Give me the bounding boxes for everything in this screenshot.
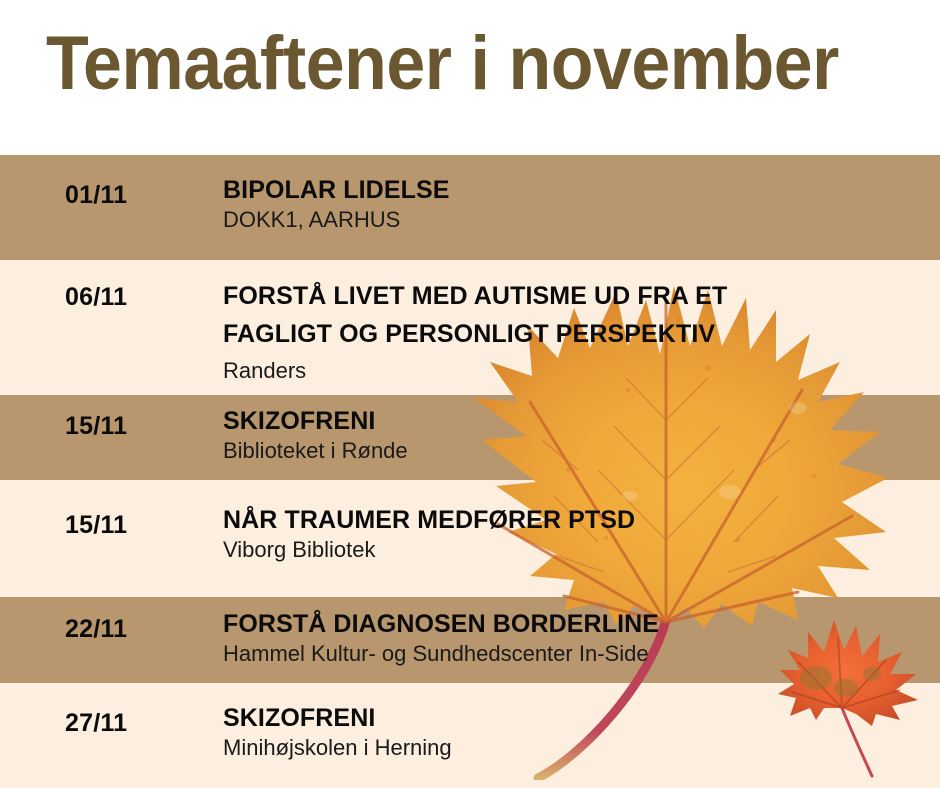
event-title: FORSTÅ DIAGNOSEN BORDERLINE bbox=[223, 609, 923, 640]
list-item[interactable]: 15/11 NÅR TRAUMER MEDFØRER PTSD Viborg B… bbox=[0, 480, 940, 597]
list-item[interactable]: 06/11 FORSTÅ LIVET MED AUTISME UD FRA ET… bbox=[0, 260, 940, 395]
event-title: NÅR TRAUMER MEDFØRER PTSD bbox=[223, 505, 923, 536]
event-place: Biblioteket i Rønde bbox=[223, 437, 923, 464]
list-item[interactable]: 22/11 FORSTÅ DIAGNOSEN BORDERLINE Hammel… bbox=[0, 597, 940, 683]
schedule-list: 01/11 BIPOLAR LIDELSE DOKK1, AARHUS 06/1… bbox=[0, 155, 940, 788]
list-item[interactable]: 27/11 SKIZOFRENI Minihøjskolen i Herning bbox=[0, 683, 940, 788]
event-title: BIPOLAR LIDELSE bbox=[223, 175, 923, 206]
event-date: 15/11 bbox=[65, 412, 127, 441]
event-title: SKIZOFRENI bbox=[223, 406, 923, 437]
event-details: SKIZOFRENI Minihøjskolen i Herning bbox=[223, 703, 923, 761]
event-details: SKIZOFRENI Biblioteket i Rønde bbox=[223, 406, 923, 464]
list-item[interactable]: 01/11 BIPOLAR LIDELSE DOKK1, AARHUS bbox=[0, 155, 940, 260]
event-details: FORSTÅ LIVET MED AUTISME UD FRA ET FAGLI… bbox=[223, 277, 923, 384]
event-details: BIPOLAR LIDELSE DOKK1, AARHUS bbox=[223, 175, 923, 233]
event-place: Hammel Kultur- og Sundhedscenter In-Side bbox=[223, 640, 923, 667]
event-title: SKIZOFRENI bbox=[223, 703, 923, 734]
event-date: 22/11 bbox=[65, 615, 127, 644]
event-place: DOKK1, AARHUS bbox=[223, 206, 923, 233]
event-date: 15/11 bbox=[65, 511, 127, 540]
page-title: Temaaftener i november bbox=[46, 18, 839, 110]
event-date: 06/11 bbox=[65, 283, 127, 312]
poster-header: Temaaftener i november bbox=[0, 0, 940, 155]
event-title: FORSTÅ LIVET MED AUTISME UD FRA ET FAGLI… bbox=[223, 277, 923, 353]
event-place: Minihøjskolen i Herning bbox=[223, 734, 923, 761]
poster-canvas: Temaaftener i november 01/11 BIPOLAR LID… bbox=[0, 0, 940, 788]
event-place: Viborg Bibliotek bbox=[223, 536, 923, 563]
event-details: FORSTÅ DIAGNOSEN BORDERLINE Hammel Kultu… bbox=[223, 609, 923, 667]
event-place: Randers bbox=[223, 357, 923, 384]
list-item[interactable]: 15/11 SKIZOFRENI Biblioteket i Rønde bbox=[0, 395, 940, 480]
event-date: 27/11 bbox=[65, 709, 127, 738]
event-details: NÅR TRAUMER MEDFØRER PTSD Viborg Bibliot… bbox=[223, 505, 923, 563]
event-date: 01/11 bbox=[65, 181, 127, 210]
